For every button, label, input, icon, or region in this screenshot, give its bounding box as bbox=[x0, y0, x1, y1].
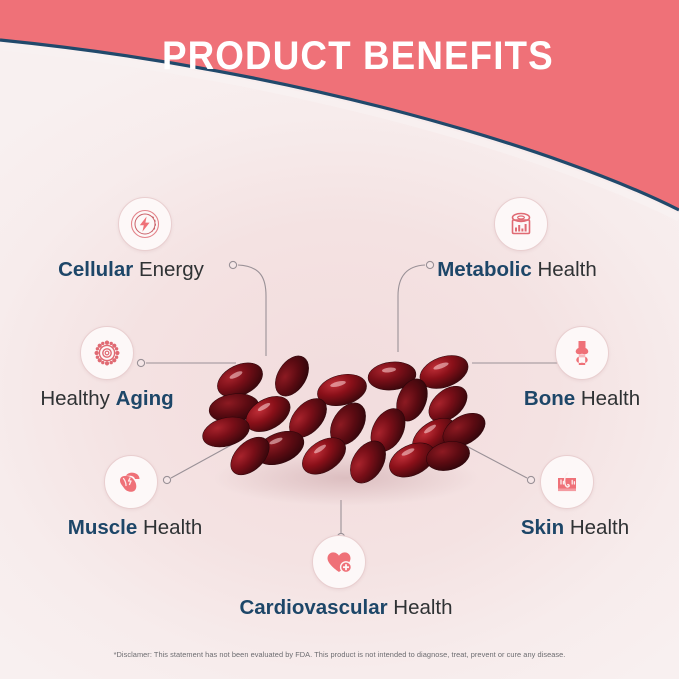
heart-cross-icon bbox=[312, 535, 366, 589]
benefit-label-strong: Skin bbox=[521, 516, 564, 539]
benefit-label-plain: Health bbox=[575, 387, 640, 410]
benefit-label-strong: Cardiovascular bbox=[239, 596, 387, 619]
benefit-label-plain: Health bbox=[564, 516, 629, 539]
benefit-label-strong: Cellular bbox=[58, 258, 133, 281]
benefit-label-plain: Energy bbox=[133, 258, 204, 281]
benefit-label: Metabolic Health bbox=[404, 260, 630, 281]
skin-layers-icon bbox=[540, 455, 594, 509]
benefit-label-plain: Healthy bbox=[40, 387, 115, 410]
benefit-label: Cellular Energy bbox=[26, 260, 236, 281]
benefit-label-plain: Health bbox=[388, 596, 453, 619]
benefit-muscle-health[interactable]: Muscle Health bbox=[38, 455, 232, 539]
benefit-cardiovascular-health[interactable]: Cardiovascular Health bbox=[212, 535, 480, 619]
benefit-label-strong: Bone bbox=[524, 387, 575, 410]
softgel-capsule-pile bbox=[196, 352, 492, 512]
benefit-healthy-aging[interactable]: Healthy Aging bbox=[4, 326, 210, 410]
benefit-label: Bone Health bbox=[497, 389, 667, 410]
disclaimer-text: *Disclamer: This statement has not been … bbox=[0, 650, 679, 659]
benefit-metabolic-health[interactable]: Metabolic Health bbox=[404, 197, 630, 281]
cell-rosette-icon bbox=[80, 326, 134, 380]
bone-joint-icon bbox=[555, 326, 609, 380]
benefit-label-plain: Health bbox=[137, 516, 202, 539]
benefit-skin-health[interactable]: Skin Health bbox=[492, 455, 658, 539]
benefit-label-strong: Aging bbox=[116, 387, 174, 410]
benefit-label-plain: Health bbox=[532, 258, 597, 281]
lightning-bolt-icon bbox=[118, 197, 172, 251]
benefit-label: Skin Health bbox=[492, 518, 658, 539]
page-title: PRODUCT BENEFITS bbox=[27, 34, 652, 79]
flexed-bicep-icon bbox=[104, 455, 158, 509]
benefit-label-strong: Metabolic bbox=[437, 258, 532, 281]
benefit-cellular-energy[interactable]: Cellular Energy bbox=[26, 197, 236, 281]
benefit-label: Cardiovascular Health bbox=[212, 598, 480, 619]
benefit-label: Healthy Aging bbox=[4, 389, 210, 410]
benefit-label: Muscle Health bbox=[38, 518, 232, 539]
benefit-label-strong: Muscle bbox=[68, 516, 138, 539]
infographic-canvas: PRODUCT BENEFITS bbox=[0, 0, 679, 679]
measuring-tape-icon bbox=[494, 197, 548, 251]
benefit-bone-health[interactable]: Bone Health bbox=[497, 326, 667, 410]
